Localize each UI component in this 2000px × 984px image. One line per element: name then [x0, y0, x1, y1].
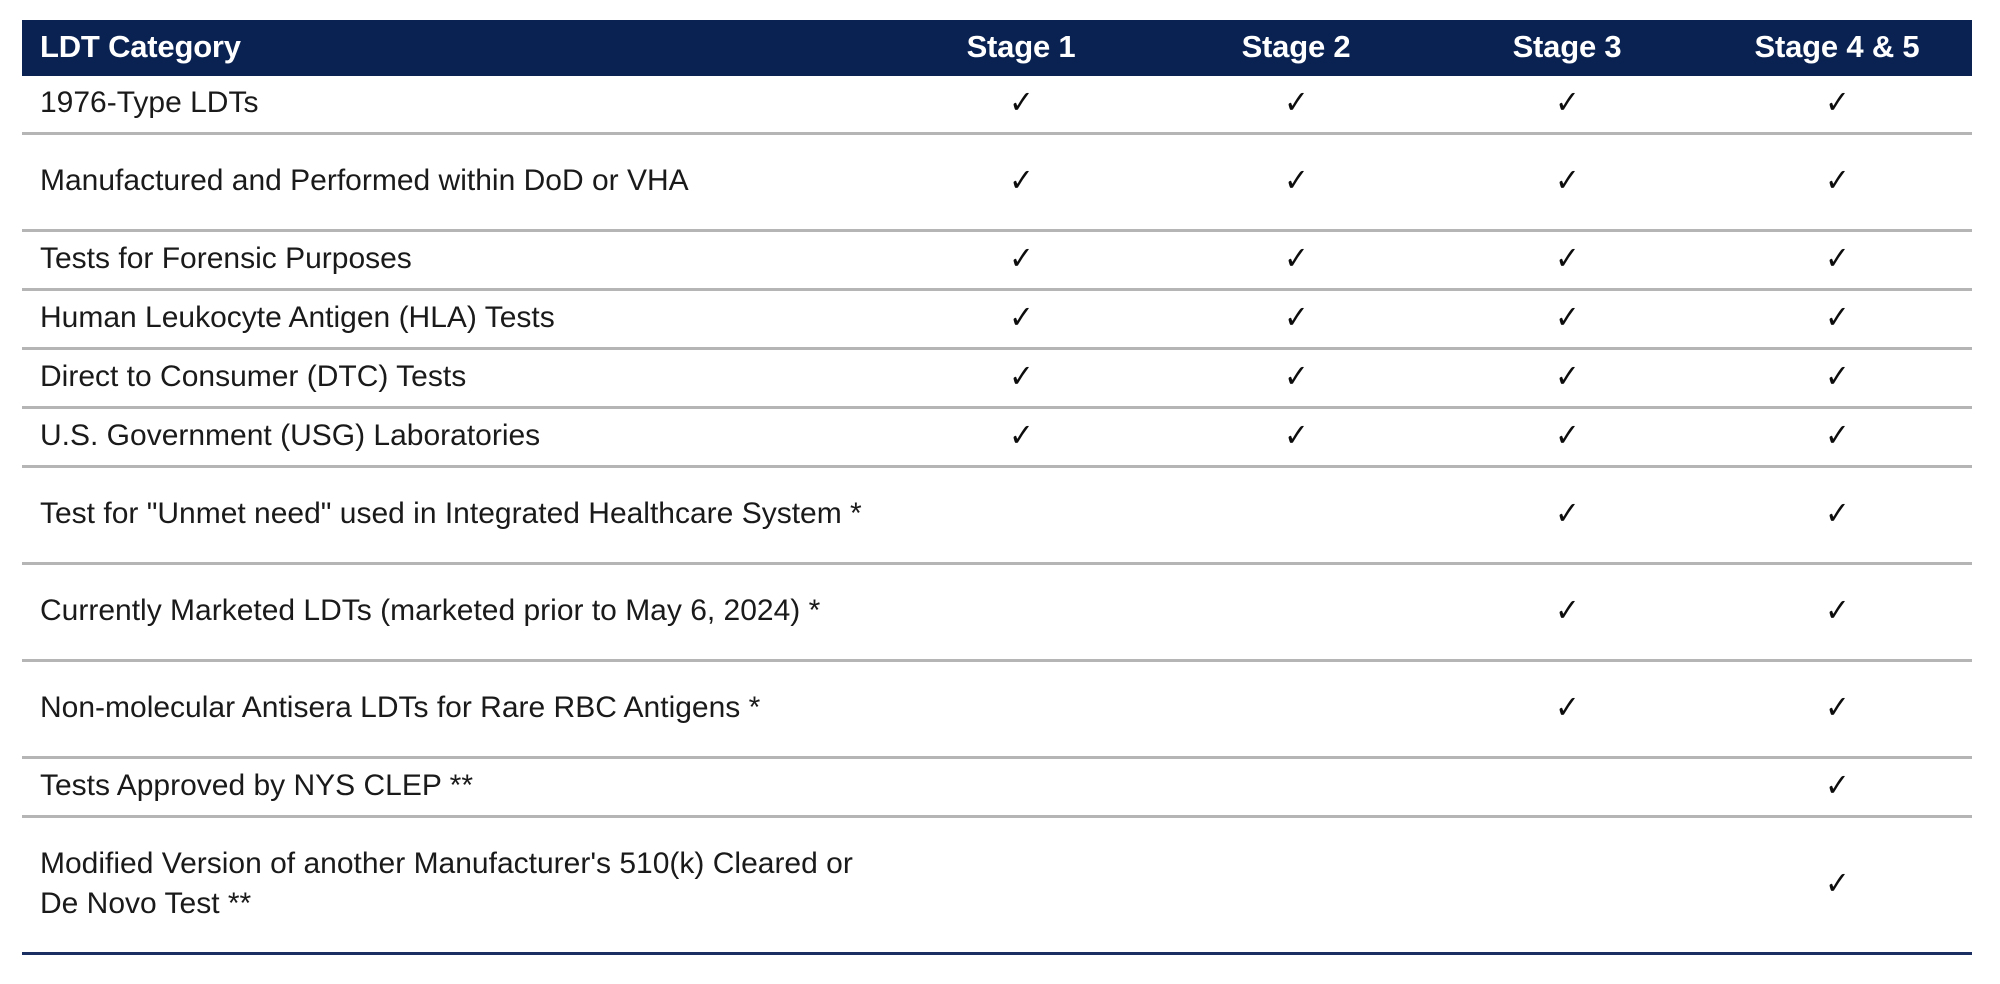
cell-stage-1 — [882, 564, 1160, 661]
checkmark-icon: ✓ — [1825, 86, 1850, 118]
checkmark-icon: ✓ — [1825, 164, 1850, 196]
cell-stage-3 — [1432, 817, 1702, 954]
row-label-category: Modified Version of another Manufacturer… — [22, 817, 882, 954]
row-label-category: U.S. Government (USG) Laboratories — [22, 408, 882, 467]
cell-stage-2 — [1160, 817, 1432, 954]
cell-stage-4-and-5: ✓ — [1702, 467, 1972, 564]
cell-stage-2: ✓ — [1160, 134, 1432, 231]
table-row: Manufactured and Performed within DoD or… — [22, 134, 1972, 231]
row-label-category: Non-molecular Antisera LDTs for Rare RBC… — [22, 661, 882, 758]
cell-stage-4-and-5: ✓ — [1702, 661, 1972, 758]
column-header-category: LDT Category — [22, 20, 882, 76]
column-header-stage-3: Stage 3 — [1432, 20, 1702, 76]
cell-stage-4-and-5: ✓ — [1702, 76, 1972, 134]
cell-stage-1 — [882, 467, 1160, 564]
checkmark-icon: ✓ — [1555, 360, 1580, 392]
checkmark-icon: ✓ — [1555, 691, 1580, 723]
checkmark-icon: ✓ — [1825, 360, 1850, 392]
checkmark-icon: ✓ — [1284, 360, 1309, 392]
table-body: 1976-Type LDTs✓✓✓✓Manufactured and Perfo… — [22, 76, 1972, 954]
table-row: Tests Approved by NYS CLEP **✓ — [22, 758, 1972, 817]
cell-stage-4-and-5: ✓ — [1702, 408, 1972, 467]
cell-stage-1: ✓ — [882, 349, 1160, 408]
cell-stage-1: ✓ — [882, 76, 1160, 134]
table-row: 1976-Type LDTs✓✓✓✓ — [22, 76, 1972, 134]
row-label-category: Human Leukocyte Antigen (HLA) Tests — [22, 290, 882, 349]
cell-stage-4-and-5: ✓ — [1702, 758, 1972, 817]
cell-stage-4-and-5: ✓ — [1702, 349, 1972, 408]
cell-stage-3: ✓ — [1432, 349, 1702, 408]
cell-stage-1 — [882, 661, 1160, 758]
checkmark-icon: ✓ — [1825, 497, 1850, 529]
checkmark-icon: ✓ — [1009, 301, 1034, 333]
row-label-category: Tests Approved by NYS CLEP ** — [22, 758, 882, 817]
cell-stage-2 — [1160, 758, 1432, 817]
checkmark-icon: ✓ — [1825, 769, 1850, 801]
cell-stage-4-and-5: ✓ — [1702, 290, 1972, 349]
cell-stage-3 — [1432, 758, 1702, 817]
checkmark-icon: ✓ — [1284, 164, 1309, 196]
table-row: Modified Version of another Manufacturer… — [22, 817, 1972, 954]
table-row: Currently Marketed LDTs (marketed prior … — [22, 564, 1972, 661]
column-header-stage-4-and-5: Stage 4 & 5 — [1702, 20, 1972, 76]
cell-stage-1: ✓ — [882, 290, 1160, 349]
checkmark-icon: ✓ — [1009, 360, 1034, 392]
checkmark-icon: ✓ — [1555, 86, 1580, 118]
column-header-stage-1: Stage 1 — [882, 20, 1160, 76]
row-label-category: Direct to Consumer (DTC) Tests — [22, 349, 882, 408]
table-row: Test for "Unmet need" used in Integrated… — [22, 467, 1972, 564]
cell-stage-2: ✓ — [1160, 76, 1432, 134]
cell-stage-3: ✓ — [1432, 564, 1702, 661]
checkmark-icon: ✓ — [1825, 242, 1850, 274]
cell-stage-1: ✓ — [882, 231, 1160, 290]
cell-stage-4-and-5: ✓ — [1702, 134, 1972, 231]
cell-stage-1: ✓ — [882, 408, 1160, 467]
cell-stage-1 — [882, 817, 1160, 954]
checkmark-icon: ✓ — [1825, 419, 1850, 451]
cell-stage-3: ✓ — [1432, 231, 1702, 290]
checkmark-icon: ✓ — [1284, 242, 1309, 274]
cell-stage-2: ✓ — [1160, 349, 1432, 408]
checkmark-icon: ✓ — [1825, 691, 1850, 723]
cell-stage-2 — [1160, 467, 1432, 564]
checkmark-icon: ✓ — [1009, 164, 1034, 196]
checkmark-icon: ✓ — [1009, 86, 1034, 118]
column-header-stage-2: Stage 2 — [1160, 20, 1432, 76]
row-label-category: 1976-Type LDTs — [22, 76, 882, 134]
cell-stage-2: ✓ — [1160, 408, 1432, 467]
table-row: Tests for Forensic Purposes✓✓✓✓ — [22, 231, 1972, 290]
cell-stage-3: ✓ — [1432, 661, 1702, 758]
row-label-category: Currently Marketed LDTs (marketed prior … — [22, 564, 882, 661]
cell-stage-1 — [882, 758, 1160, 817]
cell-stage-3: ✓ — [1432, 408, 1702, 467]
checkmark-icon: ✓ — [1284, 86, 1309, 118]
cell-stage-4-and-5: ✓ — [1702, 231, 1972, 290]
checkmark-icon: ✓ — [1825, 594, 1850, 626]
checkmark-icon: ✓ — [1284, 301, 1309, 333]
checkmark-icon: ✓ — [1825, 301, 1850, 333]
checkmark-icon: ✓ — [1555, 594, 1580, 626]
cell-stage-3: ✓ — [1432, 76, 1702, 134]
table-row: U.S. Government (USG) Laboratories✓✓✓✓ — [22, 408, 1972, 467]
checkmark-icon: ✓ — [1825, 867, 1850, 899]
cell-stage-3: ✓ — [1432, 134, 1702, 231]
checkmark-icon: ✓ — [1555, 242, 1580, 274]
checkmark-icon: ✓ — [1555, 497, 1580, 529]
cell-stage-2: ✓ — [1160, 290, 1432, 349]
cell-stage-3: ✓ — [1432, 290, 1702, 349]
checkmark-icon: ✓ — [1009, 242, 1034, 274]
table-row: Human Leukocyte Antigen (HLA) Tests✓✓✓✓ — [22, 290, 1972, 349]
table-header: LDT Category Stage 1 Stage 2 Stage 3 Sta… — [22, 20, 1972, 76]
row-label-category: Manufactured and Performed within DoD or… — [22, 134, 882, 231]
table-row: Direct to Consumer (DTC) Tests✓✓✓✓ — [22, 349, 1972, 408]
ldt-stage-table-container: LDT Category Stage 1 Stage 2 Stage 3 Sta… — [22, 20, 1972, 955]
checkmark-icon: ✓ — [1009, 419, 1034, 451]
cell-stage-2 — [1160, 661, 1432, 758]
cell-stage-2 — [1160, 564, 1432, 661]
checkmark-icon: ✓ — [1284, 419, 1309, 451]
row-label-category: Tests for Forensic Purposes — [22, 231, 882, 290]
cell-stage-2: ✓ — [1160, 231, 1432, 290]
checkmark-icon: ✓ — [1555, 301, 1580, 333]
cell-stage-4-and-5: ✓ — [1702, 564, 1972, 661]
cell-stage-4-and-5: ✓ — [1702, 817, 1972, 954]
cell-stage-1: ✓ — [882, 134, 1160, 231]
cell-stage-3: ✓ — [1432, 467, 1702, 564]
checkmark-icon: ✓ — [1555, 419, 1580, 451]
ldt-stage-table: LDT Category Stage 1 Stage 2 Stage 3 Sta… — [22, 20, 1972, 955]
row-label-category: Test for "Unmet need" used in Integrated… — [22, 467, 882, 564]
checkmark-icon: ✓ — [1555, 164, 1580, 196]
table-row: Non-molecular Antisera LDTs for Rare RBC… — [22, 661, 1972, 758]
table-header-row: LDT Category Stage 1 Stage 2 Stage 3 Sta… — [22, 20, 1972, 76]
